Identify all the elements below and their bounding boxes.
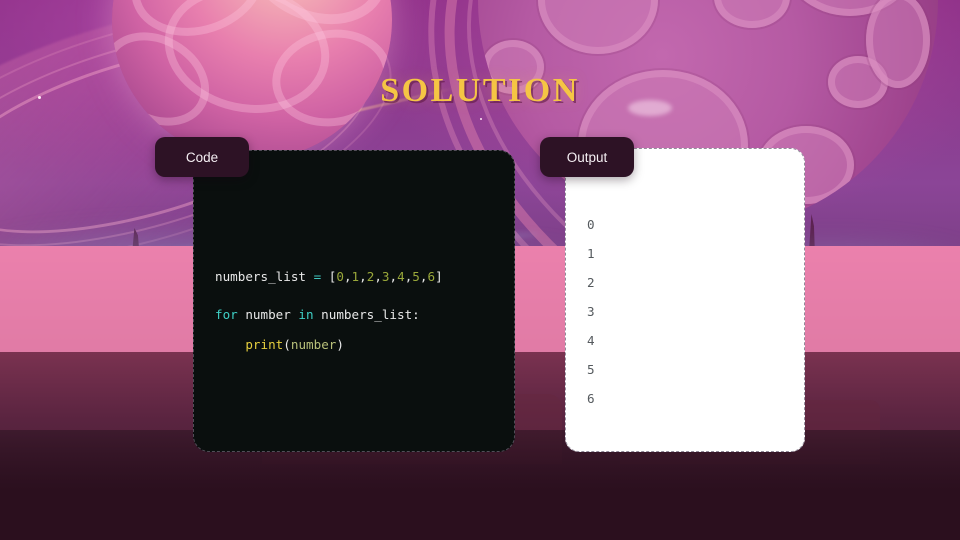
tab-output-label: Output	[567, 150, 608, 165]
output-line: 0	[587, 210, 595, 239]
crater	[538, 0, 658, 54]
code-line: numbers_list = [0,1,2,3,4,5,6]	[215, 262, 505, 292]
code-token: )	[336, 337, 344, 352]
page-title: SOLUTION	[0, 72, 960, 110]
tab-code[interactable]: Code	[155, 137, 249, 177]
code-token: 4	[397, 269, 405, 284]
code-panel: numbers_list = [0,1,2,3,4,5,6] for numbe…	[193, 150, 515, 452]
crater	[714, 0, 790, 28]
code-token: 1	[352, 269, 360, 284]
code-token: ]	[435, 269, 443, 284]
code-token: (	[283, 337, 291, 352]
output-line: 6	[587, 384, 595, 413]
star	[480, 118, 482, 120]
tab-code-label: Code	[186, 150, 218, 165]
code-token: for	[215, 307, 245, 322]
code-line: for number in numbers_list:	[215, 300, 505, 330]
code-token: ,	[390, 269, 398, 284]
code-token: 5	[412, 269, 420, 284]
code-token: print	[245, 337, 283, 352]
output-line: 2	[587, 268, 595, 297]
code-token: 0	[336, 269, 344, 284]
output-line: 3	[587, 297, 595, 326]
output-line: 4	[587, 326, 595, 355]
output-panel: 0123456	[565, 148, 805, 452]
code-token: number	[291, 337, 337, 352]
code-line: print(number)	[215, 330, 505, 360]
output-line: 5	[587, 355, 595, 384]
slide-canvas: SOLUTION Code numbers_list = [0,1,2,3,4,…	[0, 0, 960, 540]
code-token: 3	[382, 269, 390, 284]
output-line: 1	[587, 239, 595, 268]
code-token: numbers_list:	[321, 307, 420, 322]
code-token: ,	[374, 269, 382, 284]
output-text: 0123456	[587, 210, 595, 413]
code-token: number	[245, 307, 298, 322]
code-line	[215, 292, 505, 300]
code-token: in	[298, 307, 321, 322]
code-token: numbers_list	[215, 269, 314, 284]
code-token: 6	[427, 269, 435, 284]
code-token	[215, 337, 245, 352]
code-block: numbers_list = [0,1,2,3,4,5,6] for numbe…	[215, 262, 505, 360]
code-token: =	[314, 269, 329, 284]
code-token: ,	[344, 269, 352, 284]
tab-output[interactable]: Output	[540, 137, 634, 177]
code-token: ,	[359, 269, 367, 284]
